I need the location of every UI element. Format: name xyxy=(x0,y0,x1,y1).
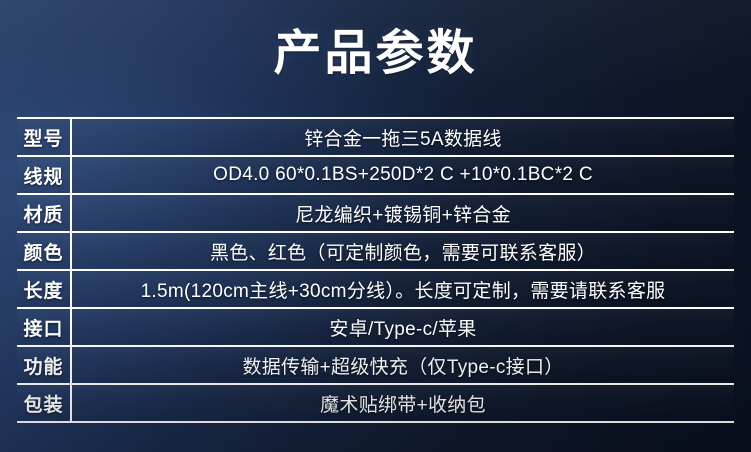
spec-label-wire-gauge: 线规 xyxy=(17,156,71,194)
spec-label-material: 材质 xyxy=(17,194,71,232)
table-row: 接口 安卓/Type-c/苹果 xyxy=(17,308,734,346)
spec-label-model: 型号 xyxy=(17,118,71,156)
spec-label-function: 功能 xyxy=(17,346,71,384)
table-row: 包装 魔术贴绑带+收纳包 xyxy=(17,384,734,422)
spec-value-wire-gauge: OD4.0 60*0.1BS+250D*2 C +10*0.1BC*2 C xyxy=(71,156,734,194)
table-row: 线规 OD4.0 60*0.1BS+250D*2 C +10*0.1BC*2 C xyxy=(17,156,734,194)
table-row: 功能 数据传输+超级快充（仅Type-c接口） xyxy=(17,346,734,384)
table-row: 颜色 黑色、红色（可定制颜色，需要可联系客服） xyxy=(17,232,734,270)
table-row: 长度 1.5m(120cm主线+30cm分线）。长度可定制，需要请联系客服 xyxy=(17,270,734,308)
product-spec-page: 产品参数 型号 锌合金一拖三5A数据线 线规 OD4.0 60*0.1BS+25… xyxy=(0,0,751,452)
spec-label-interface: 接口 xyxy=(17,308,71,346)
page-title-container: 产品参数 xyxy=(0,26,751,82)
spec-label-packaging: 包装 xyxy=(17,384,71,422)
table-row: 型号 锌合金一拖三5A数据线 xyxy=(17,118,734,156)
spec-label-length: 长度 xyxy=(17,270,71,308)
spec-value-length: 1.5m(120cm主线+30cm分线）。长度可定制，需要请联系客服 xyxy=(71,270,734,308)
spec-value-interface: 安卓/Type-c/苹果 xyxy=(71,308,734,346)
page-title: 产品参数 xyxy=(273,26,477,82)
spec-value-function: 数据传输+超级快充（仅Type-c接口） xyxy=(71,346,734,384)
spec-label-color: 颜色 xyxy=(17,232,71,270)
spec-value-color: 黑色、红色（可定制颜色，需要可联系客服） xyxy=(71,232,734,270)
spec-value-material: 尼龙编织+镀锡铜+锌合金 xyxy=(71,194,734,232)
spec-value-packaging: 魔术贴绑带+收纳包 xyxy=(71,384,734,422)
product-spec-table: 型号 锌合金一拖三5A数据线 线规 OD4.0 60*0.1BS+250D*2 … xyxy=(17,117,734,423)
table-row: 材质 尼龙编织+镀锡铜+锌合金 xyxy=(17,194,734,232)
spec-value-model: 锌合金一拖三5A数据线 xyxy=(71,118,734,156)
spec-table-body: 型号 锌合金一拖三5A数据线 线规 OD4.0 60*0.1BS+250D*2 … xyxy=(17,118,734,422)
